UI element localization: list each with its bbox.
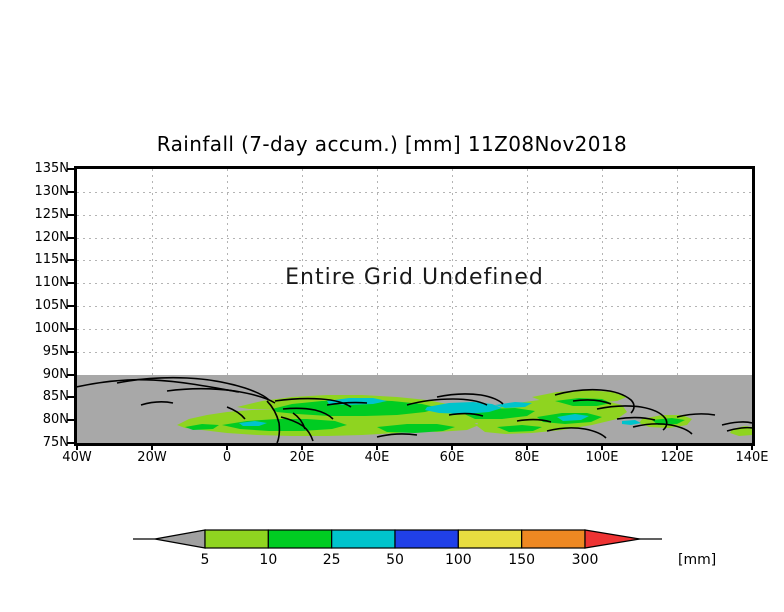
figure-canvas: Rainfall (7-day accum.) [mm] 11Z08Nov201… bbox=[0, 0, 784, 612]
colorbar-tick-label: 100 bbox=[428, 552, 488, 568]
colorbar-tick-label: 10 bbox=[238, 552, 298, 568]
colorbar-labels: 5102550100150300[mm] bbox=[0, 0, 784, 612]
colorbar-unit-label: [mm] bbox=[678, 552, 716, 568]
colorbar-tick-label: 300 bbox=[555, 552, 615, 568]
colorbar-tick-label: 150 bbox=[492, 552, 552, 568]
colorbar-tick-label: 50 bbox=[365, 552, 425, 568]
colorbar-tick-label: 25 bbox=[302, 552, 362, 568]
colorbar-tick-label: 5 bbox=[175, 552, 235, 568]
